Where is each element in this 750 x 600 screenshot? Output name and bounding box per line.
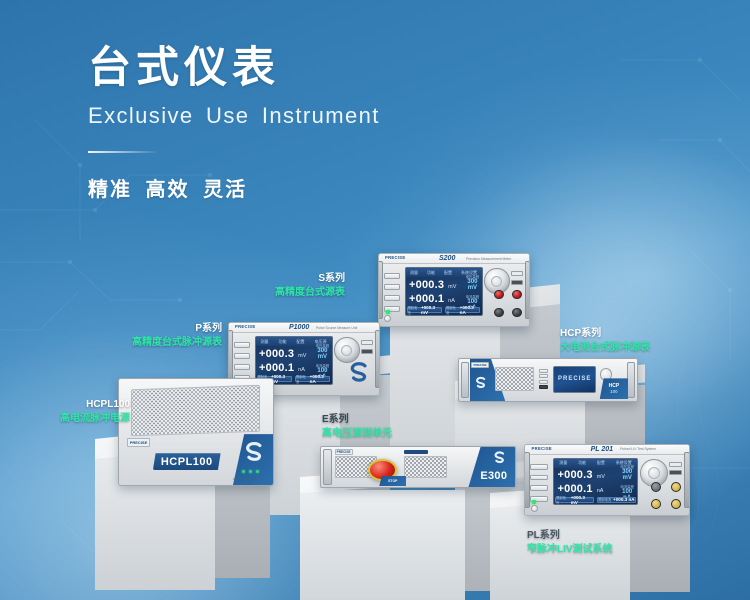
p-softkey-2[interactable] [234,353,251,359]
callout-hcp-series: HCP系列 大电流台式脉冲源表 [560,327,680,354]
pl-limit-voltage: 限制电压 +000.3 mV [555,497,594,503]
s-limit-voltage-key: 限制电压 [408,305,419,315]
s-limit-bar: 限制电压 +000.3 mV 限制电流 +000.3 nA [407,306,481,314]
callout-pl-series-desc: 窄脉冲LIV测试系统 [527,543,657,557]
hcp-display-screen[interactable]: PRECISE [553,366,596,393]
s-readout-row-current: +000.1 nA [407,293,463,305]
p-limit-current: 限制电流 +000.3 nA [295,376,330,382]
p-current-value: +000.1 [259,362,294,374]
pl-voltage-value: +000.3 [558,469,593,481]
s-range-voltage: 电压量程 300 mV [464,274,480,291]
device-hcpl100[interactable]: PRECISE HCPL100 Power Limit Output [118,378,274,486]
s-tab-0[interactable]: 测量 [410,270,418,276]
divider-rule [88,151,156,153]
pl-tab-1[interactable]: 功能 [578,460,586,466]
s-softkey-2[interactable] [384,284,401,290]
s-range-voltage-label: 电压量程 [464,274,480,279]
s-terminal-force-lo[interactable] [494,308,503,317]
p-softkey-1[interactable] [234,342,251,348]
p-aux-port[interactable] [361,349,373,354]
hcp-button-2[interactable] [539,374,548,378]
hcpl-status-leds [242,470,259,473]
p-model-label: P1000 [289,324,309,331]
p-range-voltage: 电压量程 300 mV [314,343,330,360]
device-e300[interactable]: PRECISE STOP E300 [320,446,516,488]
pl-usb-port[interactable] [669,462,682,467]
pl-readout-row-voltage: +000.3 mV [556,469,618,481]
callout-hcp-series-desc: 大电流台式脉冲源表 [560,341,680,355]
callout-s-series-series: S系列 [235,272,345,286]
page-title: 台式仪表 [88,44,380,93]
pl-range-current-label: 电流量程 [618,484,635,489]
p-limit-current-key: 限制电流 [296,374,308,384]
s-current-value: +000.1 [409,293,444,305]
s-limit-voltage-value: +000.3 mV [421,305,441,315]
e300-vent-grill-right [404,456,447,478]
s-usb-port[interactable] [511,271,523,276]
p-brand-label: PRECISE [235,324,255,329]
hcpl-brand-label: PRECISE [127,438,151,447]
s-terminal-force-hi[interactable] [494,290,503,299]
pl-current-value: +000.1 [558,483,593,495]
e300-brand-label: PRECISE [335,449,353,455]
p-model-sub-label: Pulse Source Measure Unit [316,326,357,330]
pl-range-voltage: 电压量程 300 mV [618,464,635,481]
s-aux-port[interactable] [511,280,523,285]
callout-p-series-series: P系列 [110,322,222,336]
e300-model-badge: E300 [480,470,507,482]
pl-range-panel: 电压量程 300 mV 电流量程 100 nA [618,469,635,495]
hero-banner: 台式仪表 Exclusive Use Instrument 精准 高效 灵活 [0,0,750,600]
pl-connector-block[interactable] [648,480,684,511]
s-handle-right [525,261,530,319]
pl-voltage-unit: mV [597,474,605,480]
hcp-badge-bottom: 100 [610,389,618,394]
p-voltage-unit: mV [298,353,306,359]
e300-stop-label-plate: STOP [379,476,406,486]
hcpl-company-logo-icon [239,438,270,466]
s-limit-current-value: +000.3 nA [460,305,480,315]
s-brand-label: PRECISE [385,255,405,260]
s-readout-row-voltage: +000.3 mV [407,279,463,291]
hcpl-vent-grill [131,385,260,436]
callout-pl-series: PL系列 窄脉冲LIV测试系统 [527,529,657,556]
s-softkey-3[interactable] [384,295,401,301]
p-softkey-3[interactable] [234,364,251,370]
hcpl-status-caption: Power Limit Output [233,477,262,481]
pl-limit-voltage-value: +000.3 mV [571,495,593,505]
pl-readout-row-current: +000.1 nA [556,483,618,495]
pl-limit-voltage-key: 限制电压 [556,495,569,505]
pl-softkey-2[interactable] [530,475,548,481]
tagline: 精准 高效 灵活 [88,173,380,202]
hcp-rack-ear-right [627,362,635,399]
p-voltage-value: +000.3 [259,348,294,360]
pl-limit-current: 限制电流 +000.3 nA [597,497,636,503]
e300-indicator-strip [404,450,427,454]
s-range-voltage-value: 300 mV [464,279,480,291]
s-model-label: S200 [439,255,455,262]
e300-estop-label: STOP [388,479,397,483]
p-tab-0[interactable]: 测量 [261,339,269,345]
p-range-current-label: 电流量程 [314,363,330,368]
p-readout-area: +000.3 mV +000.1 nA [257,347,313,375]
page-subtitle: Exclusive Use Instrument [88,103,380,129]
pl-bnc-connector-4[interactable] [671,499,681,509]
s-range-current-label: 电流量程 [464,294,480,299]
callout-e-series-series: E系列 [322,413,442,427]
p-range-voltage-value: 300 mV [314,348,330,360]
p-range-panel: 电压量程 300 mV 电流量程 100 nA [314,348,330,375]
e300-company-logo-icon [490,449,509,466]
p-tab-1[interactable]: 功能 [279,339,287,345]
p-usb-port[interactable] [361,340,373,345]
callout-hcpl100-desc: 高电流脉冲电源 [18,412,130,426]
pl-bnc-connector-1[interactable] [651,482,661,492]
pl-status-led [532,500,536,504]
pl-range-voltage-label: 电压量程 [618,464,635,469]
pl-limit-bar: 限制电压 +000.3 mV 限制电流 +000.3 nA [555,496,636,503]
s-terminal-block[interactable] [492,287,525,320]
s-status-led [386,310,390,314]
p-company-logo-icon [345,358,374,387]
pl-aux-port[interactable] [669,470,682,475]
pl-limit-current-value: +000.3 nA [613,497,635,502]
p-tab-2[interactable]: 配置 [297,339,305,345]
s-limit-voltage: 限制电压 +000.3 mV [407,307,442,313]
pl-display-screen[interactable]: 测量 功能 配置 系统设置 +000.3 mV +000.1 nA [553,458,638,506]
hcp-brand-label: PRECISE [471,362,488,368]
callout-hcp-series-series: HCP系列 [560,327,680,341]
callout-p-series-desc: 高精度台式脉冲源表 [110,336,222,350]
s-tab-1[interactable]: 功能 [427,270,435,276]
pl-brand-label: PRECISE [532,446,552,451]
s-terminal-sense-hi[interactable] [512,290,521,299]
s-power-button[interactable] [384,315,391,322]
pl-model-label: PL 201 [591,446,613,453]
s-limit-current: 限制电流 +000.3 nA [445,307,480,313]
s-voltage-value: +000.3 [409,279,444,291]
hcp-usb-port[interactable] [539,385,548,388]
hcp-button-column[interactable] [539,367,548,390]
p-readout-row-voltage: +000.3 mV [257,348,313,360]
callout-hcpl100: HCPL100 高电流脉冲电源 [18,398,130,425]
s-handle-left [378,261,383,319]
s-range-panel: 电压量程 300 mV 电流量程 100 nA [464,279,480,306]
p-readout-row-current: +000.1 nA [257,362,313,374]
hcp-model-badge: HCP 100 [600,378,628,399]
pl-current-unit: nA [597,488,604,494]
pl-bnc-connector-2[interactable] [671,482,681,492]
hcp-company-logo-icon [473,373,489,392]
device-s-series[interactable]: PRECISE S200 Precision Measurement Meter… [378,253,530,327]
device-pl-series[interactable]: PRECISE PL 201 Pulsed LIV Test System 测量… [524,444,690,516]
hcpl-model-badge: HCPL100 [153,453,221,470]
headline-block: 台式仪表 Exclusive Use Instrument 精准 高效 灵活 [88,44,380,202]
hcp-vent-grill [495,367,534,391]
pl-model-sub-label: Pulsed LIV Test System [620,447,656,451]
s-display-screen[interactable]: 测量 功能 配置 系统设置 +000.3 mV +000.1 nA [405,267,483,316]
s-model-sub-label: Precision Measurement Meter [466,257,511,261]
pl-softkey-3[interactable] [530,485,548,491]
p-handle-right [375,330,380,388]
callout-pl-series-series: PL系列 [527,529,657,543]
pl-range-voltage-value: 300 mV [618,469,635,481]
pl-handle-left [524,452,530,508]
s-softkey-1[interactable] [384,273,401,279]
pl-bnc-connector-3[interactable] [651,499,661,509]
hcp-rack-ear-left [461,362,469,399]
pl-tab-2[interactable]: 配置 [597,460,605,466]
e300-rack-ear-left [323,449,332,484]
s-limit-current-key: 限制电流 [446,305,458,315]
s-readout-area: +000.3 mV +000.1 nA [407,278,463,306]
callout-s-series: S系列 高精度台式源表 [235,272,345,299]
pl-readout-area: +000.3 mV +000.1 nA [556,468,618,495]
pl-handle-right [684,452,690,508]
s-voltage-unit: mV [448,284,456,290]
callout-p-series: P系列 高精度台式脉冲源表 [110,322,222,349]
callout-e-series-desc: 高电压源测单元 [322,427,442,441]
s-current-unit: nA [448,298,455,304]
callout-e-series: E系列 高电压源测单元 [322,413,442,440]
hcp-button-3[interactable] [539,380,548,384]
pl-tab-0[interactable]: 测量 [559,460,567,466]
s-terminal-sense-lo[interactable] [512,308,521,317]
p-current-unit: nA [298,367,305,373]
callout-s-series-desc: 高精度台式源表 [235,286,345,300]
device-hcp-series[interactable]: PRECISE PRECISE HCP 100 [458,358,638,402]
pl-power-button[interactable] [531,505,538,512]
hcp-display-text: PRECISE [558,376,591,382]
s-tab-2[interactable]: 配置 [444,270,452,276]
callout-hcpl100-series: HCPL100 [18,398,130,412]
pl-limit-current-key: 限制电流 [598,497,611,502]
p-range-voltage-label: 电压量程 [314,343,330,348]
p-limit-current-value: +000.3 nA [310,374,330,384]
pl-softkey-1[interactable] [530,464,548,470]
hcp-button-1[interactable] [539,369,548,373]
